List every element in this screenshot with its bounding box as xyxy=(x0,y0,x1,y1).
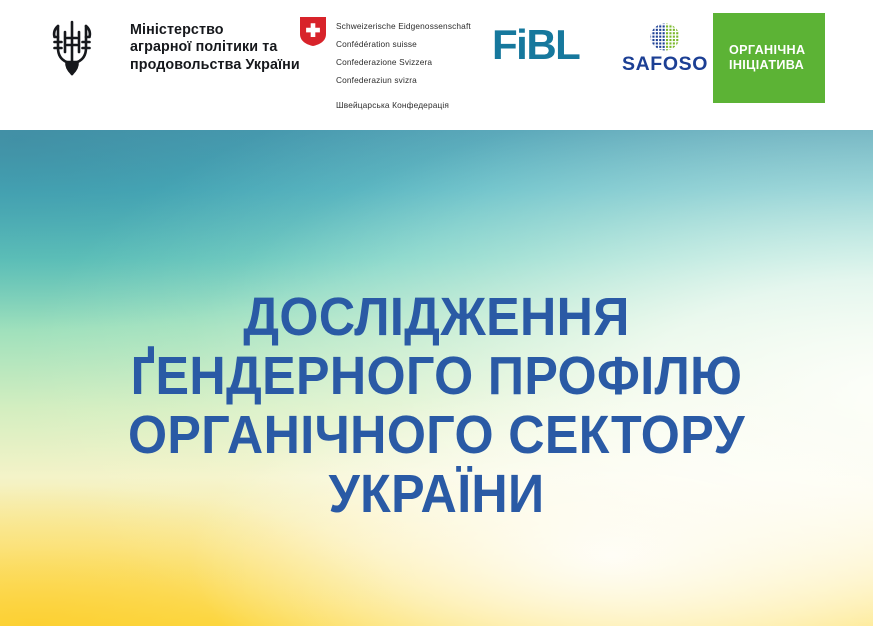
swiss-confederation-names: Schweizerische Eidgenossenschaft Confédé… xyxy=(336,16,471,110)
cover-title: ДОСЛІДЖЕННЯ ҐЕНДЕРНОГО ПРОФІЛЮ ОРГАНІЧНО… xyxy=(31,288,843,524)
ministry-label: Міністерство аграрної політики та продов… xyxy=(130,22,300,75)
safoso-dot-grid-icon xyxy=(642,22,688,52)
ukraine-trident-icon xyxy=(48,18,96,78)
swiss-cross-shield-icon xyxy=(300,17,326,46)
cover-page: Міністерство аграрної політики та продов… xyxy=(0,0,873,626)
swiss-name-de: Schweizerische Eidgenossenschaft xyxy=(336,21,471,31)
organic-initiative-logo: ОРГАНІЧНА ІНІЦІАТИВА xyxy=(713,13,825,103)
swiss-name-uk: Швейцарська Конфедерація xyxy=(336,100,471,110)
swiss-name-it: Confederazione Svizzera xyxy=(336,57,432,67)
safoso-logo: SAFOSO xyxy=(622,22,708,75)
ministry-logo: Міністерство аграрної політики та продов… xyxy=(48,18,300,78)
fibl-logo: FiBL xyxy=(492,24,579,66)
cover-gradient-background: ДОСЛІДЖЕННЯ ҐЕНДЕРНОГО ПРОФІЛЮ ОРГАНІЧНО… xyxy=(0,130,873,626)
swiss-name-fr: Confédération suisse xyxy=(336,39,417,49)
organic-initiative-label: ОРГАНІЧНА ІНІЦІАТИВА xyxy=(729,43,805,74)
ukraine-flag-bar-icon xyxy=(109,20,118,76)
swiss-confederation-logo: Schweizerische Eidgenossenschaft Confédé… xyxy=(300,16,471,110)
partner-logo-bar: Міністерство аграрної політики та продов… xyxy=(0,0,873,130)
swiss-name-rm: Confederaziun svizra xyxy=(336,75,417,85)
safoso-label: SAFOSO xyxy=(622,53,708,75)
